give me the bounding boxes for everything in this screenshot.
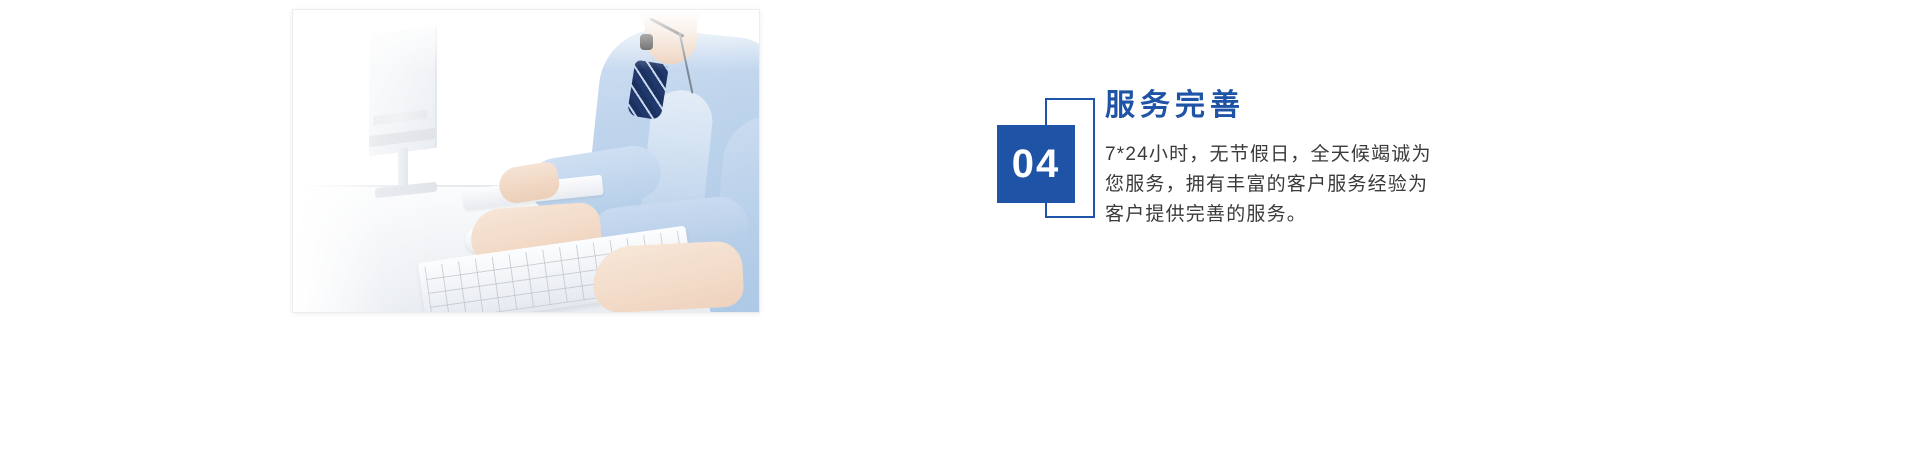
feature-content: 04 服务完善 7*24小时，无节假日，全天候竭诚为 您服务，拥有丰富的客户服务… [997, 88, 1717, 268]
feature-description-line: 客户提供完善的服务。 [1105, 200, 1535, 230]
feature-text-column: 服务完善 7*24小时，无节假日，全天候竭诚为 您服务，拥有丰富的客户服务经验为… [1105, 88, 1535, 230]
agent-two-hand-on-keyboard [591, 240, 744, 312]
feature-title: 服务完善 [1105, 88, 1535, 124]
feature-section: 04 服务完善 7*24小时，无节假日，全天候竭诚为 您服务，拥有丰富的客户服务… [0, 0, 1920, 452]
photo-fade-top [293, 10, 759, 70]
feature-photo-frame [293, 10, 759, 312]
feature-description: 7*24小时，无节假日，全天候竭诚为 您服务，拥有丰富的客户服务经验为 客户提供… [1105, 140, 1535, 230]
feature-description-line: 7*24小时，无节假日，全天候竭诚为 [1105, 140, 1535, 170]
feature-number-badge: 04 [997, 98, 1101, 228]
badge-number-label: 04 [997, 125, 1075, 203]
feature-description-line: 您服务，拥有丰富的客户服务经验为 [1105, 170, 1535, 200]
customer-service-photo [293, 10, 759, 312]
